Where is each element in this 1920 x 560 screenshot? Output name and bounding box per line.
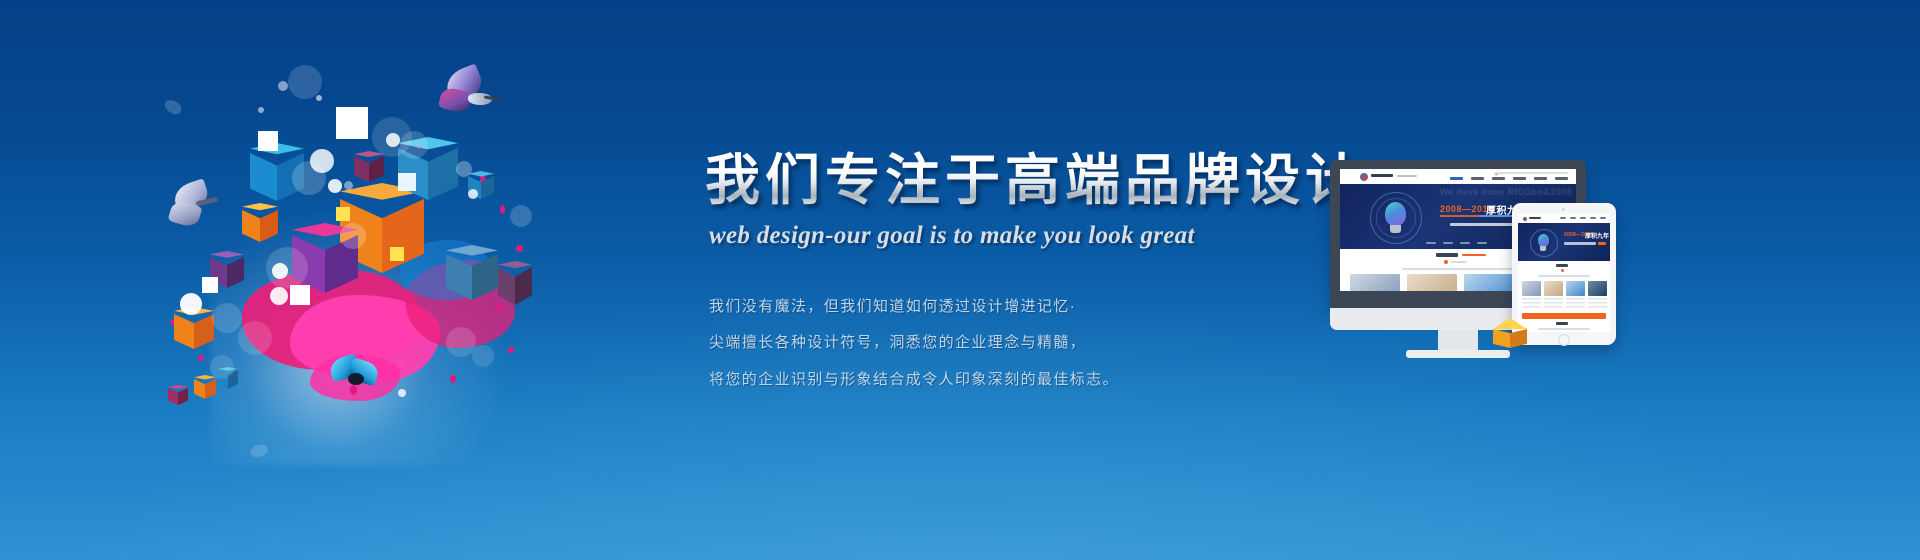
monitor-stand-neck	[1438, 330, 1478, 352]
site-card-thumb[interactable]	[1464, 274, 1514, 291]
tablet-site-logo-text	[1529, 217, 1541, 219]
butterfly-left-icon	[170, 183, 228, 231]
site-logo-text	[1371, 174, 1393, 177]
tablet-screen: 2008—2016 厚积九年	[1518, 214, 1610, 332]
bubble	[210, 355, 234, 379]
bubble	[386, 133, 400, 147]
tablet-section-marker	[1561, 269, 1564, 272]
tablet-lightbulb-base	[1540, 246, 1546, 251]
tablet-lightbulb-graphic	[1530, 229, 1556, 256]
hero-copy: 我们专注于高端品牌设计 web design-our goal is to ma…	[705, 150, 1345, 405]
cube-right-face	[1510, 329, 1527, 348]
bubble	[344, 181, 353, 190]
tablet-card-row	[1522, 281, 1607, 296]
bubble	[162, 97, 184, 116]
nav-link[interactable]	[1580, 217, 1586, 219]
site-logo-subtext	[1397, 175, 1417, 177]
cube-small-orange	[242, 203, 278, 245]
section-marker-dot	[1444, 260, 1448, 264]
device-mockups: We have done RICGbo&2008 2008—2016 厚积九年	[1330, 160, 1750, 400]
bubble	[212, 303, 242, 333]
bubble	[180, 293, 202, 315]
bubble	[270, 287, 288, 305]
bubble	[316, 95, 322, 101]
nav-link[interactable]	[1590, 217, 1596, 219]
page-subtitle: web design-our goal is to make you look …	[709, 222, 1345, 250]
caption-lines	[1544, 298, 1563, 310]
tablet-hero-tagline	[1564, 242, 1596, 245]
tablet-section-description	[1538, 275, 1590, 277]
tablet-card-captions	[1522, 298, 1607, 310]
site-hero-pagination[interactable]	[1426, 242, 1487, 244]
paragraph-line-1: 我们没有魔法，但我们知道如何透过设计增进记忆·	[709, 296, 1345, 319]
hero-banner: 我们专注于高端品牌设计 web design-our goal is to ma…	[0, 0, 1920, 560]
section-description	[1402, 268, 1514, 270]
nav-link	[1534, 177, 1547, 180]
tablet-orange-cta-bar[interactable]	[1522, 313, 1606, 319]
tablet-hero-title: 厚积九年	[1585, 231, 1609, 240]
cube-small-cyan	[354, 151, 384, 185]
cube-steel-right	[446, 245, 498, 305]
bubble	[340, 223, 366, 249]
white-square	[258, 131, 278, 151]
site-hero-tagline	[1450, 223, 1520, 226]
tablet-card-thumb[interactable]	[1522, 281, 1541, 296]
tablet-site-logo-icon	[1523, 217, 1527, 221]
cube-tiny-bottom	[194, 375, 216, 401]
tablet-camera-icon	[1562, 208, 1565, 211]
nav-link[interactable]	[1570, 217, 1576, 219]
cube-plum-far-right	[498, 261, 532, 309]
paint-fleck	[500, 205, 505, 214]
bubble	[288, 65, 322, 99]
pagination-dot[interactable]	[1460, 242, 1470, 244]
tablet-site-hero: 2008—2016 厚积九年	[1518, 223, 1610, 261]
bubble	[238, 321, 272, 355]
tablet-card-thumb[interactable]	[1566, 281, 1585, 296]
nav-link	[1471, 177, 1484, 180]
white-square	[390, 247, 404, 261]
butterfly-bottom-icon	[328, 355, 382, 397]
lightbulb-icon	[1385, 202, 1406, 226]
section-title-en	[1462, 254, 1486, 256]
tablet-card-thumb[interactable]	[1588, 281, 1607, 296]
paint-fleck	[508, 347, 514, 353]
white-square	[398, 173, 416, 191]
tablet-hero-cta-button[interactable]	[1598, 242, 1606, 245]
bubble	[278, 81, 288, 91]
section-title	[1436, 253, 1458, 257]
bubble	[400, 131, 428, 159]
cube-tiny-magenta-bottom	[168, 385, 188, 407]
abstract-cubes-explosion-artwork	[150, 55, 580, 455]
paragraph-line-3: 将您的企业识别与形象结合成令人印象深刻的最佳标志。	[709, 369, 1345, 392]
nav-link[interactable]	[1560, 217, 1566, 219]
cube-left-face	[1493, 329, 1510, 348]
tablet-mockup: 2008—2016 厚积九年	[1512, 203, 1616, 345]
paint-fleck	[516, 245, 523, 252]
bubble	[258, 107, 264, 113]
nav-link	[1450, 177, 1463, 180]
nav-link	[1492, 177, 1505, 180]
caption-lines	[1522, 298, 1541, 310]
pagination-dot[interactable]	[1477, 242, 1487, 244]
bubble	[292, 161, 326, 195]
site-hero-ghost-text: We have done RICGbo&2008	[1440, 187, 1572, 197]
paragraph-line-2: 尖端擅长各种设计符号，洞悉您的企业理念与精髓，	[709, 332, 1345, 355]
bubble	[468, 189, 478, 199]
white-square	[336, 107, 368, 139]
bubble	[472, 345, 494, 367]
nav-link	[1513, 177, 1526, 180]
pagination-dot[interactable]	[1443, 242, 1453, 244]
paint-fleck	[450, 375, 456, 383]
white-square	[202, 277, 218, 293]
tablet-site-content	[1518, 261, 1610, 332]
paint-fleck	[198, 355, 204, 361]
caption-lines	[1566, 298, 1585, 310]
tablet-section-title-2	[1556, 322, 1568, 325]
bubble	[456, 161, 472, 177]
white-square	[336, 207, 350, 221]
site-card-thumb[interactable]	[1407, 274, 1457, 291]
nav-link[interactable]	[1600, 217, 1606, 219]
tablet-card-thumb[interactable]	[1544, 281, 1563, 296]
tablet-section-description-2	[1538, 328, 1590, 330]
bubble	[398, 389, 406, 397]
bubble	[272, 263, 288, 279]
lightbulb-network-graphic	[1370, 192, 1420, 244]
pagination-dot[interactable]	[1426, 242, 1436, 244]
nav-link	[1555, 177, 1568, 180]
cube-top-face	[1493, 318, 1527, 329]
site-logo-icon	[1360, 173, 1368, 181]
site-card-thumb[interactable]	[1350, 274, 1400, 291]
orange-cube-icon	[1493, 318, 1527, 352]
tablet-section-title	[1556, 264, 1568, 267]
bubble	[328, 179, 342, 193]
site-topbar-contact	[1494, 172, 1568, 174]
tablet-home-button[interactable]	[1558, 334, 1570, 346]
tablet-nav-links	[1560, 217, 1610, 219]
caption-lines	[1588, 298, 1607, 310]
tablet-site-navbar	[1518, 214, 1610, 223]
site-nav-links	[1450, 177, 1576, 180]
section-marker-line	[1451, 261, 1467, 263]
site-navbar	[1340, 169, 1576, 184]
butterfly-top-right-icon	[440, 69, 502, 119]
lightbulb-base	[1390, 225, 1401, 233]
bubble	[510, 205, 532, 227]
hero-paragraph: 我们没有魔法，但我们知道如何透过设计增进记忆· 尖端擅长各种设计符号，洞悉您的企…	[709, 296, 1345, 392]
page-title: 我们专注于高端品牌设计	[705, 150, 1345, 212]
